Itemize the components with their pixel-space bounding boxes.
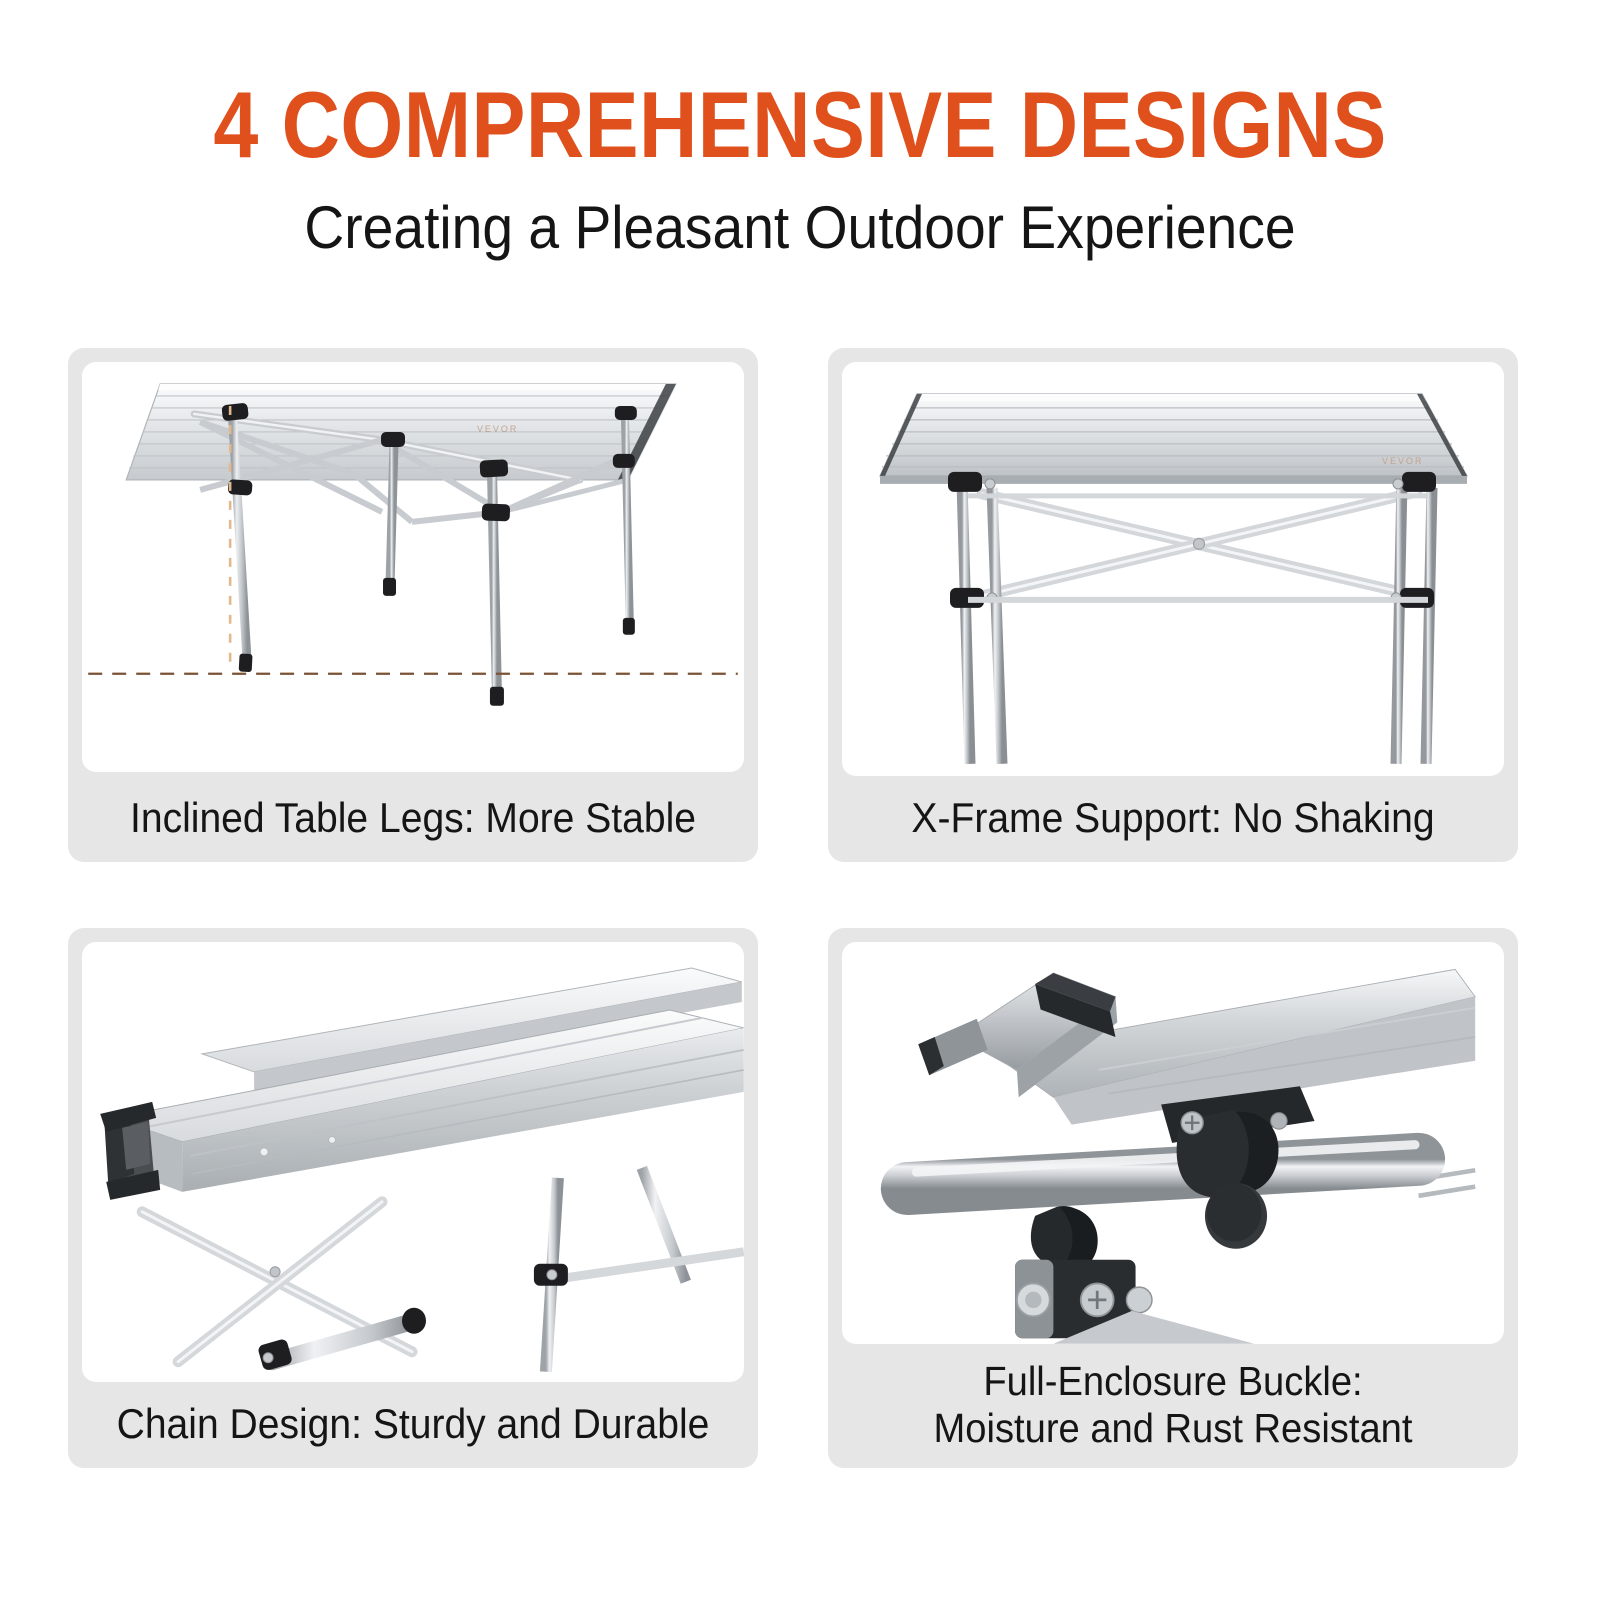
product-photo-inclined-legs: VEVOR [82, 362, 744, 772]
page-title: 4 COMPREHENSIVE DESIGNS [112, 78, 1488, 172]
feature-card-chain-design[interactable]: Chain Design: Sturdy and Durable [68, 928, 758, 1468]
table-top: VEVOR [126, 384, 676, 480]
product-photo-buckle [842, 942, 1504, 1344]
table-legs [948, 472, 1436, 764]
illustration-chain-design [82, 942, 744, 1382]
feature-caption-buckle: Full-Enclosure Buckle: Moisture and Rust… [865, 1344, 1481, 1468]
illustration-buckle [842, 942, 1504, 1344]
illustration-inclined-legs: VEVOR [82, 362, 744, 772]
page-subtitle: Creating a Pleasant Outdoor Experience [64, 198, 1536, 258]
illustration-x-frame: VEVOR [842, 362, 1504, 776]
x-frame-support [982, 492, 1417, 596]
table-top: VEVOR [880, 394, 1467, 484]
header: 4 COMPREHENSIVE DESIGNS Creating a Pleas… [0, 0, 1600, 258]
feature-caption-x-frame: X-Frame Support: No Shaking [865, 776, 1481, 862]
brand-mark: VEVOR [477, 424, 518, 434]
feature-caption-chain-design: Chain Design: Sturdy and Durable [105, 1382, 721, 1468]
feature-grid: VEVOR [68, 348, 1534, 1468]
product-photo-chain-design [82, 942, 744, 1382]
feature-card-full-enclosure-buckle[interactable]: Full-Enclosure Buckle: Moisture and Rust… [828, 928, 1518, 1468]
lower-x-frame [142, 1168, 744, 1372]
feature-card-x-frame[interactable]: VEVOR [828, 348, 1518, 862]
feature-caption-inclined-legs: Inclined Table Legs: More Stable [105, 772, 721, 862]
brand-mark: VEVOR [1382, 456, 1424, 466]
cross-tube [907, 1145, 1418, 1189]
product-photo-x-frame: VEVOR [842, 362, 1504, 776]
feature-card-inclined-legs[interactable]: VEVOR [68, 348, 758, 862]
